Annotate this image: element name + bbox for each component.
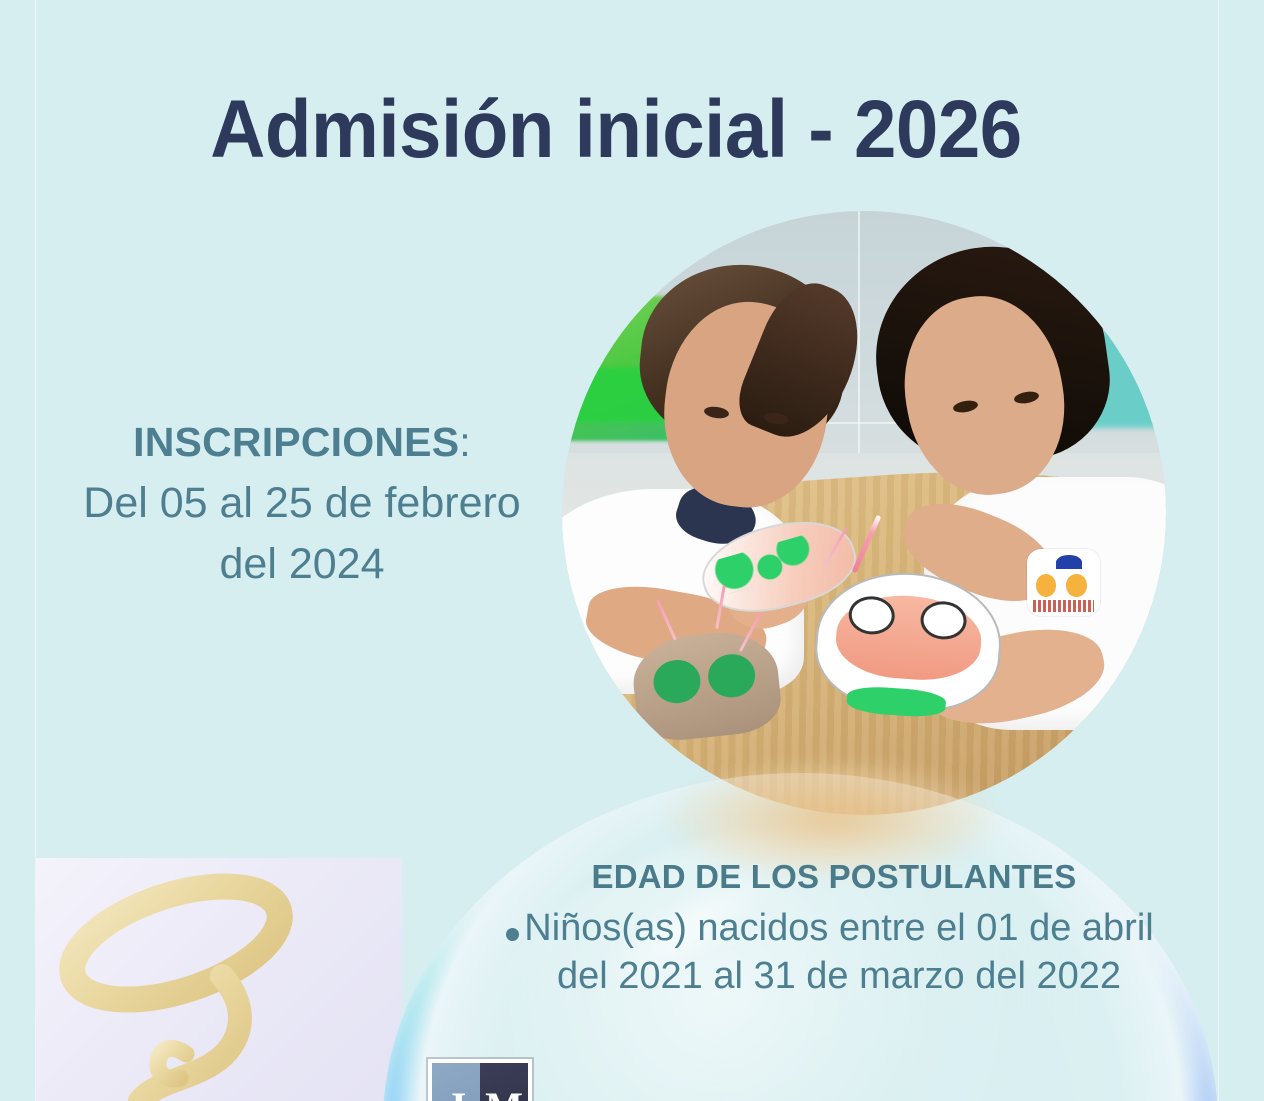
- school-uniform-badge: [1027, 549, 1099, 615]
- photo-scene: [562, 211, 1166, 815]
- palette-green-paint-2: [707, 651, 758, 699]
- age-bullet-line-2: del 2021 al 31 de marzo del 2022: [508, 952, 1170, 1000]
- classroom-photo: [562, 211, 1166, 815]
- inscriptions-heading-label: INSCRIPCIONES: [133, 419, 459, 465]
- inscriptions-range-line-1: Del 05 al 25 de febrero: [52, 473, 552, 534]
- palette-green-paint-1: [652, 657, 703, 705]
- inscriptions-heading: INSCRIPCIONES:: [52, 412, 552, 473]
- logo-letter-left: J: [432, 1063, 480, 1101]
- age-heading: EDAD DE LOS POSTULANTES: [498, 856, 1170, 898]
- poster-slide: Admisión inicial - 2026 INSCRIPCIONES: D…: [0, 0, 1264, 1101]
- age-bullet-line-1: Niños(as) nacidos entre el 01 de abril: [508, 904, 1170, 952]
- age-requirements-block: EDAD DE LOS POSTULANTES Niños(as) nacido…: [498, 856, 1170, 1000]
- angel-halo-photo: [36, 858, 402, 1101]
- badge-text-strip: [1033, 600, 1094, 612]
- page-title: Admisión inicial - 2026: [43, 82, 1189, 178]
- photo-tile-seam-vertical: [858, 211, 860, 483]
- school-logo-badge: J M: [428, 1059, 532, 1101]
- bullet-point-icon: [506, 928, 519, 941]
- age-bullet-row: Niños(as) nacidos entre el 01 de abril d…: [498, 904, 1170, 1000]
- inscriptions-heading-colon: :: [459, 419, 471, 465]
- badge-face-right-icon: [1066, 574, 1086, 597]
- inscriptions-block: INSCRIPCIONES: Del 05 al 25 de febrero d…: [52, 412, 552, 595]
- angel-halo-graphic: [36, 858, 402, 1101]
- age-bullet-text: Niños(as) nacidos entre el 01 de abril d…: [508, 904, 1170, 1000]
- badge-face-left-icon: [1036, 574, 1056, 597]
- logo-letter-right: M: [480, 1063, 528, 1101]
- inscriptions-range-line-2: del 2024: [52, 534, 552, 595]
- slide-frame-guide-right: [1218, 0, 1219, 1101]
- badge-cap-icon: [1056, 555, 1082, 570]
- photo-craft-green-paint: [711, 534, 817, 596]
